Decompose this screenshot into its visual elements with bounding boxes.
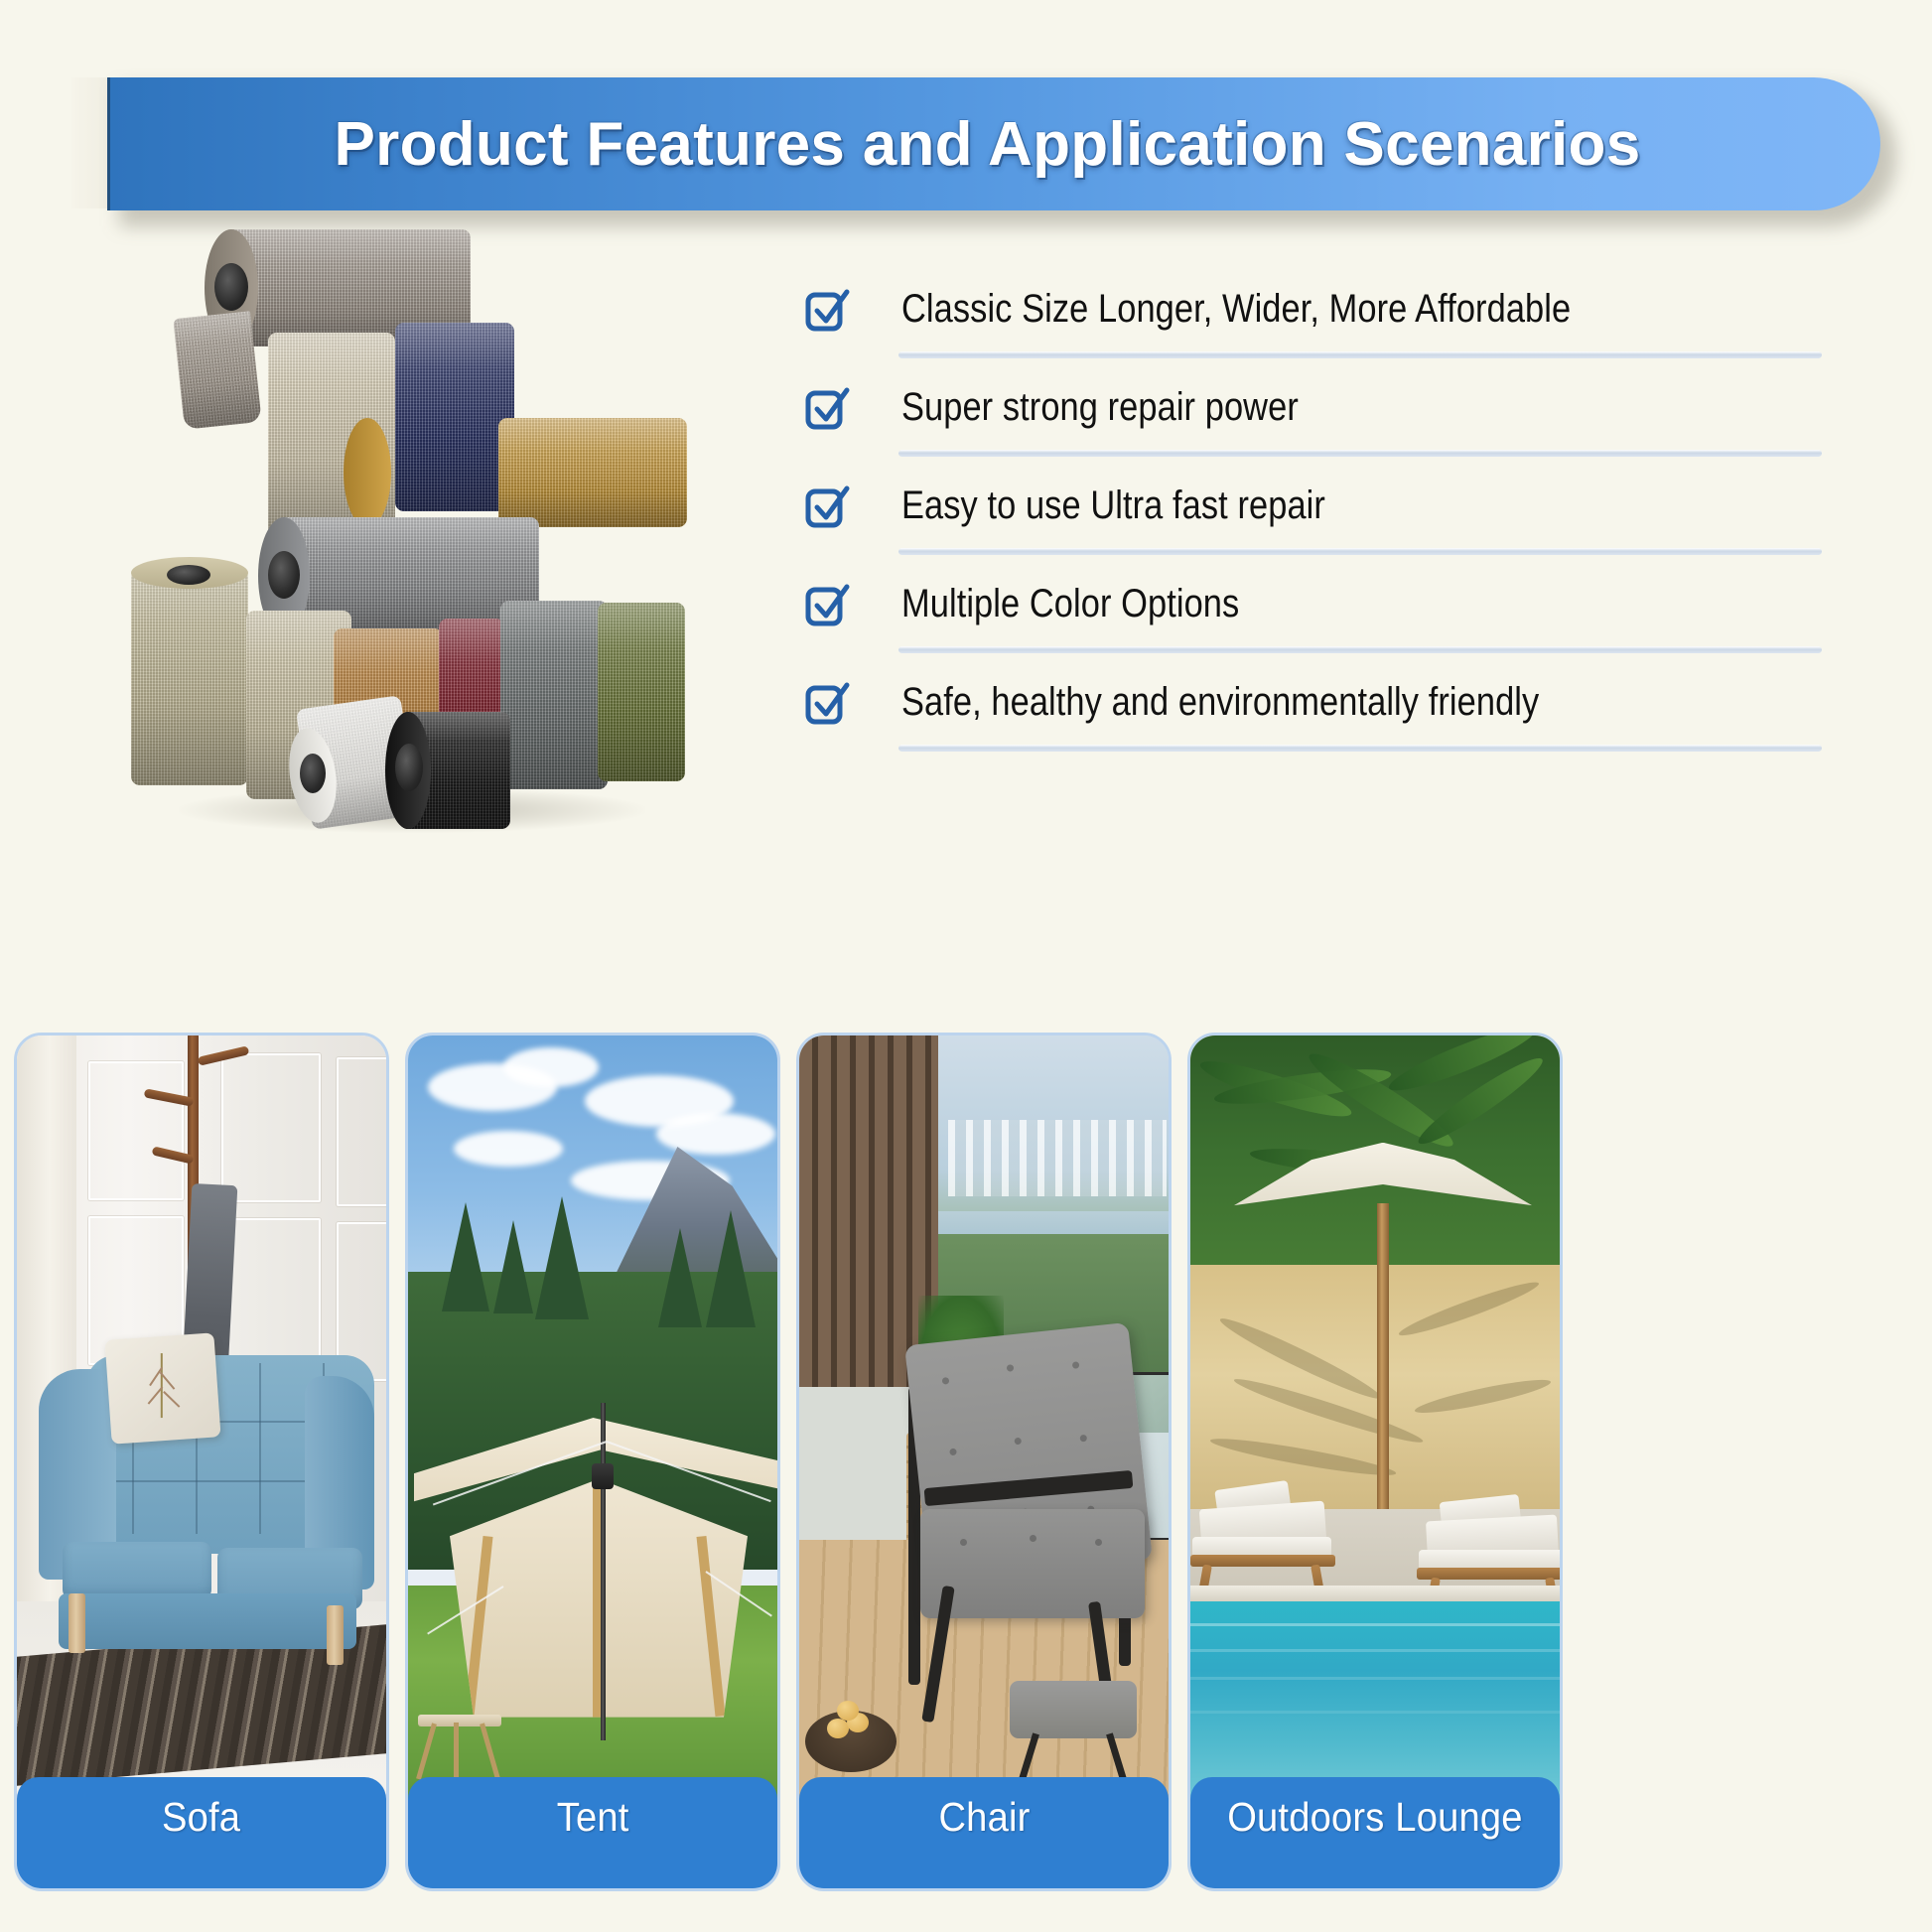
feature-divider: [898, 450, 1822, 457]
feature-divider: [898, 548, 1822, 555]
feature-list: Classic Size Longer, Wider, More Afforda…: [968, 260, 1891, 752]
scenario-label-text: Sofa: [162, 1794, 240, 1841]
page-title: Product Features and Application Scenari…: [334, 109, 1640, 180]
scenario-photo-outdoors-lounge: [1190, 1035, 1560, 1800]
tape-roll-white-hole: [300, 754, 326, 793]
checkbox-checked-icon: [804, 483, 852, 530]
tape-roll-navy: [395, 323, 514, 511]
checkbox-checked-icon: [804, 581, 852, 628]
product-image: [149, 223, 705, 829]
scenario-card-outdoors-lounge[interactable]: Outdoors Lounge: [1187, 1033, 1563, 1891]
feature-item: Easy to use Ultra fast repair: [968, 457, 1891, 555]
feature-label: Classic Size Longer, Wider, More Afforda…: [901, 287, 1571, 332]
scenario-label-tent: Tent: [408, 1777, 777, 1888]
feature-label: Multiple Color Options: [901, 582, 1239, 626]
scenario-photo-sofa: [17, 1035, 386, 1800]
feature-label: Easy to use Ultra fast repair: [901, 483, 1325, 528]
scenario-photo-chair: [799, 1035, 1169, 1800]
scenario-label-outdoors-lounge: Outdoors Lounge: [1190, 1777, 1560, 1888]
checkbox-checked-icon: [804, 384, 852, 432]
feature-divider: [898, 351, 1822, 358]
scenario-photo-tent: [408, 1035, 777, 1800]
scenario-card-tent[interactable]: Tent: [405, 1033, 780, 1891]
scenario-label-text: Outdoors Lounge: [1227, 1794, 1522, 1841]
tape-roll-grey-top-hole: [214, 263, 248, 311]
scenario-card-sofa[interactable]: Sofa: [14, 1033, 389, 1891]
tape-roll-khaki-left: [131, 569, 248, 785]
tape-roll-grey-right: [500, 601, 608, 789]
feature-item: Classic Size Longer, Wider, More Afforda…: [968, 260, 1891, 358]
checkbox-checked-icon: [804, 286, 852, 334]
scenario-card-chair[interactable]: Chair: [796, 1033, 1172, 1891]
tape-roll-black-hole: [395, 744, 423, 791]
tape-roll-mustard-end: [344, 418, 391, 527]
feature-item: Multiple Color Options: [968, 555, 1891, 653]
tape-roll-khaki-left-hole: [167, 565, 210, 585]
feature-divider: [898, 646, 1822, 653]
feature-divider: [898, 745, 1822, 752]
scenario-card-list: Sofa: [14, 1033, 1920, 1896]
feature-label: Super strong repair power: [901, 385, 1299, 430]
feature-item: Super strong repair power: [968, 358, 1891, 457]
header-banner: Product Features and Application Scenari…: [107, 77, 1880, 210]
scenario-label-text: Tent: [557, 1794, 629, 1841]
tape-roll-mustard: [498, 418, 687, 527]
tape-roll-olive: [598, 603, 685, 781]
pool-lounger-left: [1196, 1479, 1337, 1598]
tape-roll-grey-center-hole: [268, 551, 300, 599]
scenario-label-sofa: Sofa: [17, 1777, 386, 1888]
checkbox-checked-icon: [804, 679, 852, 727]
feature-label: Safe, healthy and environmentally friend…: [901, 680, 1539, 725]
page-header: Product Features and Application Scenari…: [0, 60, 1932, 208]
feature-item: Safe, healthy and environmentally friend…: [968, 653, 1891, 752]
tape-tail-grey-top: [173, 311, 261, 430]
scenario-label-text: Chair: [938, 1794, 1030, 1841]
scenario-label-chair: Chair: [799, 1777, 1169, 1888]
